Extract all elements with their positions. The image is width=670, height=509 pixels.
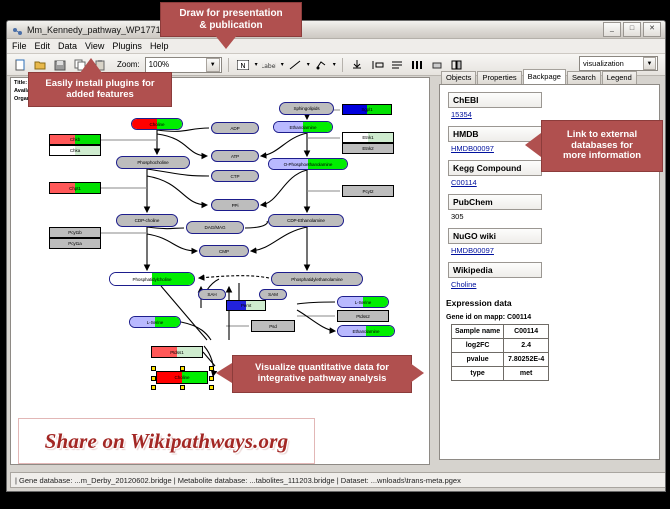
backpage-value-kegg-compound[interactable]: C00114 (451, 178, 659, 187)
pathway-node-phosphatidylcholine[interactable]: Phosphatidylcholine (109, 272, 195, 286)
chevron-down-icon-vis[interactable]: ▼ (643, 57, 656, 70)
table-cell-key: type (452, 367, 504, 381)
pathway-node-dagmag[interactable]: DAG/MAG (186, 221, 244, 234)
pathway-node-etnk1[interactable]: Etnk1 (342, 132, 394, 143)
share-banner: Share on Wikipathways.org (18, 418, 315, 464)
pathway-node-label: Phosphatidylcholine (133, 277, 172, 282)
callout-draw-line1: Draw for presentation (161, 8, 301, 20)
pathway-node-sam[interactable]: SAM (259, 289, 287, 300)
toolbar-separator-2 (342, 58, 343, 72)
interaction-dropdown[interactable]: ▾ (333, 61, 336, 68)
table-cell-key: pvalue (452, 353, 504, 367)
callout-visualize-pointer (216, 363, 232, 383)
menu-plugins[interactable]: Plugins (112, 41, 142, 51)
backpage-header-wikipedia: Wikipedia (448, 262, 542, 278)
pathway-node-label: Etnk1 (362, 135, 373, 140)
new-icon[interactable] (11, 56, 28, 73)
backpage-value-pubchem: 305 (451, 212, 659, 221)
pathway-node-label: Ptdss2 (356, 314, 369, 319)
backpage-header-chebi: ChEBI (448, 92, 542, 108)
callout-visualize-pointer-right (410, 363, 424, 383)
pathway-node-label: Choline (175, 375, 190, 380)
pathway-node-label: Pcyt1a (68, 241, 81, 246)
menu-edit[interactable]: Edit (35, 41, 51, 51)
side-panel-tabs: Objects Properties Backpage Search Legen… (431, 71, 662, 85)
close-button[interactable]: ✕ (643, 22, 661, 37)
pathway-node-label: Ethanolamine (353, 329, 380, 334)
backpage-header-nugo-wiki: NuGO wiki (448, 228, 542, 244)
visualization-value: visualization (583, 59, 624, 68)
pathway-node-label: CTP (231, 174, 240, 179)
pathway-node-l-serine-right[interactable]: L-Serine (337, 296, 389, 308)
pathway-node-ethanolamine-top[interactable]: Ethanolamine (273, 121, 333, 133)
pathway-node-label: CDP-Ethanolamine (287, 218, 325, 223)
callout-draw: Draw for presentation & publication (160, 2, 302, 37)
pathway-node-label: Sgpl1 (361, 107, 372, 112)
pathway-node-label: Psd (269, 324, 277, 329)
line-icon[interactable] (287, 56, 304, 73)
zoom-value: 100% (149, 60, 169, 69)
menu-data[interactable]: Data (58, 41, 77, 51)
pathway-node-phosphatidylethanolamine[interactable]: Phosphatidylethanolamine (271, 272, 363, 286)
align-top-icon[interactable] (349, 56, 366, 73)
save-icon[interactable] (51, 56, 68, 73)
tab-objects[interactable]: Objects (441, 71, 476, 85)
pathway-node-label: SAH (207, 292, 216, 297)
callout-link: Link to external databases for more info… (541, 120, 663, 172)
pathway-node-pcyt1a[interactable]: Pcyt1a (49, 238, 101, 249)
pathway-node-label: O-Phosphoethanolamine (284, 162, 333, 167)
pathway-node-label: Sphingolipids (293, 106, 319, 111)
menubar: File Edit Data View Plugins Help (7, 39, 665, 54)
pathway-node-label: Ethanolamine (290, 125, 317, 130)
callout-plugins-line1: Easily install plugins for (29, 79, 171, 90)
line-dropdown[interactable]: ▾ (307, 61, 310, 68)
svg-text:N: N (241, 62, 246, 70)
pathway-node-label: Choline (150, 122, 165, 127)
pathway-node-psd-left[interactable]: Psd (251, 320, 295, 332)
pathway-node-label: Chka (70, 148, 80, 153)
backpage-header-pubchem: PubChem (448, 194, 542, 210)
pathway-node-ppi[interactable]: PPi (211, 199, 259, 211)
chevron-down-icon[interactable]: ▼ (206, 58, 220, 72)
pathway-node-label: CMP (219, 249, 229, 254)
gene-id-line: Gene id on mapp: C00114 (446, 314, 659, 321)
pathway-node-label: L-Serine (355, 300, 372, 305)
canvas-title-label: Title: (14, 80, 27, 86)
pathway-node-pemt[interactable]: Pemt (226, 300, 266, 311)
pathway-node-label: SAM (268, 292, 278, 297)
callout-draw-pointer (214, 34, 238, 49)
minimize-button[interactable]: _ (603, 22, 621, 37)
menu-view[interactable]: View (85, 41, 104, 51)
pathway-node-label: ADP (230, 126, 239, 131)
pathway-node-ctp[interactable]: CTP (211, 170, 259, 182)
callout-visualize: Visualize quantitative data for integrat… (232, 355, 412, 393)
table-row: typemet (452, 367, 549, 381)
table-row: Sample nameC00114 (452, 325, 549, 339)
tab-properties[interactable]: Properties (477, 71, 521, 85)
pathway-node-ethanolamine-right[interactable]: Ethanolamine (337, 325, 395, 337)
app-icon (12, 24, 23, 35)
pathway-node-ptdss1[interactable]: Ptdss1 (151, 346, 203, 358)
table-row: pvalue7.80252E-4 (452, 353, 549, 367)
pathway-node-phosphocholine[interactable]: Phosphocholine (116, 156, 190, 169)
window-titlebar: Mm_Kennedy_pathway_WP1771_45176.gpml _ □… (7, 21, 665, 39)
backpage-value-nugo-wiki[interactable]: HMDB00097 (451, 246, 659, 255)
pathway-node-chka[interactable]: Chka (49, 145, 101, 156)
pathway-node-label: PPi (232, 203, 239, 208)
callout-plugins-pointer (80, 58, 102, 73)
expression-data-title: Expression data (446, 298, 659, 308)
callout-plugins: Easily install plugins for added feature… (28, 72, 172, 107)
pathway-node-label: Chpt1 (69, 186, 81, 191)
backpage-value-wikipedia[interactable]: Choline (451, 280, 659, 289)
table-cell-key: Sample name (452, 325, 504, 339)
tab-search[interactable]: Search (567, 71, 601, 85)
backpage-value-chebi[interactable]: 15354 (451, 110, 659, 119)
callout-link-line3: more information (542, 151, 662, 162)
table-cell-value: met (504, 367, 549, 381)
pathway-node-label: Pemt (241, 303, 251, 308)
pathway-node-cdp-ethanolamine[interactable]: CDP-Ethanolamine (268, 214, 344, 227)
menu-file[interactable]: File (12, 41, 27, 51)
stack-vertical-icon[interactable] (389, 56, 406, 73)
pathway-node-label: Pcyt2 (363, 189, 374, 194)
pathway-node-label: L-Serine (147, 320, 164, 325)
distribute-icon[interactable] (409, 56, 426, 73)
callout-visualize-line2: integrative pathway analysis (233, 374, 411, 385)
pathway-node-pcyt2[interactable]: Pcyt2 (342, 185, 394, 197)
pathway-node-label: DAG/MAG (205, 225, 226, 230)
pathway-node-sgpl1[interactable]: Sgpl1 (342, 104, 392, 115)
tab-backpage[interactable]: Backpage (523, 69, 566, 85)
pathway-canvas[interactable]: Title: Availa Organ (10, 77, 430, 465)
pathway-node-label: Ptdss1 (170, 350, 183, 355)
table-cell-value: C00114 (504, 325, 549, 339)
menu-help[interactable]: Help (150, 41, 169, 51)
backpage-header-kegg-compound: Kegg Compound (448, 160, 542, 176)
pathway-node-label: Phosphocholine (137, 160, 168, 165)
table-cell-key: log2FC (452, 339, 504, 353)
callout-draw-line2: & publication (161, 20, 301, 32)
svg-text:Label: Label (262, 63, 276, 70)
pathway-node-label: CDP-choline (135, 218, 160, 223)
pathway-node-ptdss2[interactable]: Ptdss2 (337, 310, 389, 322)
zoom-select[interactable]: 100% ▼ (145, 57, 222, 73)
pathway-node-sphingolipids[interactable]: Sphingolipids (279, 102, 334, 115)
pathway-node-chpt1[interactable]: Chpt1 (49, 182, 101, 194)
pathway-node-chkb[interactable]: Chkb (49, 134, 101, 145)
share-text: Share on Wikipathways.org (45, 429, 289, 454)
zoom-label: Zoom: (117, 60, 140, 69)
window-controls: _ □ ✕ (603, 22, 662, 37)
open-icon[interactable] (31, 56, 48, 73)
callout-link-pointer (525, 133, 541, 157)
tab-legend[interactable]: Legend (602, 71, 637, 85)
pathway-node-ophosphoethanolamine[interactable]: O-Phosphoethanolamine (268, 158, 348, 170)
datanode-dropdown[interactable]: ▾ (255, 61, 258, 68)
toolbar-separator (228, 58, 229, 72)
pathway-node-sah[interactable]: SAH (198, 289, 226, 300)
table-cell-value: 2.4 (504, 339, 549, 353)
label-icon[interactable]: Label (261, 56, 278, 73)
expression-table: Sample nameC00114log2FC2.4pvalue7.80252E… (451, 324, 549, 381)
status-bar: | Gene database: ...m_Derby_20120602.bri… (10, 472, 666, 488)
label-dropdown[interactable]: ▾ (281, 61, 284, 68)
datanode-icon[interactable]: N (235, 56, 252, 73)
pathway-node-pcyt1b[interactable]: Pcyt1b (49, 227, 101, 238)
pathway-node-label: Chkb (70, 137, 80, 142)
pathway-node-etnk2[interactable]: Etnk2 (342, 143, 394, 154)
pathway-node-choline-top[interactable]: Choline (131, 118, 183, 130)
pathway-node-label: Pcyt1b (68, 230, 81, 235)
pathway-node-cmp[interactable]: CMP (199, 245, 249, 257)
pathway-node-label: Phosphatidylethanolamine (291, 277, 343, 282)
pathway-node-adp[interactable]: ADP (211, 122, 259, 134)
interaction-icon[interactable] (313, 56, 330, 73)
visualization-select[interactable]: visualization ▼ (579, 56, 658, 71)
pathway-node-label: Etnk2 (362, 146, 373, 151)
screenshot-root: Mm_Kennedy_pathway_WP1771_45176.gpml _ □… (0, 0, 670, 509)
table-row: log2FC2.4 (452, 339, 549, 353)
pathway-node-atp[interactable]: ATP (211, 150, 259, 162)
align-left-icon[interactable] (369, 56, 386, 73)
pathway-node-label: ATP (231, 154, 239, 159)
callout-link-line1: Link to external (542, 130, 662, 141)
maximize-button[interactable]: □ (623, 22, 641, 37)
pathway-node-cdp-choline[interactable]: CDP-choline (116, 214, 178, 227)
callout-plugins-line2: added features (29, 90, 171, 101)
table-cell-value: 7.80252E-4 (504, 353, 549, 367)
pathway-node-l-serine-left[interactable]: L-Serine (129, 316, 181, 328)
